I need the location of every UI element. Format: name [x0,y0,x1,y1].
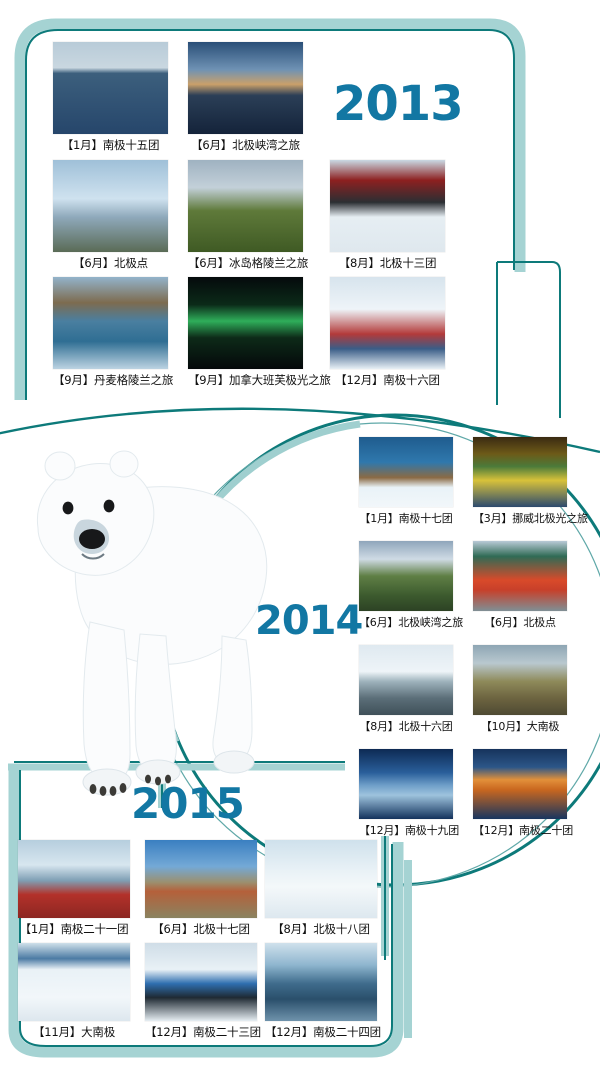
photo-caption: 【1月】南极二十一团 [18,921,130,937]
greenland-colored-houses-image[interactable] [53,277,168,369]
poster-canvas: 2013 【1月】南极十五团 【6月】北极峡湾之旅 【6月】北极点 【6月】冰岛… [0,0,600,1067]
photo-caption: 【12月】南极二十团 [473,822,573,838]
photo-cell[interactable]: 【6月】北极峡湾之旅 [188,42,303,153]
photo-cell[interactable]: 【8月】北极十八团 [265,840,377,937]
photo-cell[interactable]: 【12月】南极十六团 [330,277,445,388]
photo-caption: 【12月】南极十九团 [359,822,459,838]
photo-caption: 【11月】大南极 [18,1024,130,1040]
king-penguins-and-photographers-image[interactable] [473,645,567,715]
photo-caption: 【12月】南极二十三团 [145,1024,261,1040]
norwegian-valley-road-image[interactable] [359,541,453,611]
icebreaker-ship-with-group-image[interactable] [330,160,445,252]
photo-cell[interactable]: 【9月】加拿大班芙极光之旅 [188,277,331,388]
traveler-red-parka-photographing-image[interactable] [18,840,130,918]
photo-cell[interactable]: 【12月】南极二十三团 [145,943,261,1040]
photo-cell[interactable]: 【8月】北极十三团 [330,160,445,271]
frame-bridge-band-b [381,836,389,956]
photo-caption: 【6月】北极点 [53,255,168,271]
photo-caption: 【6月】北极十七团 [145,921,257,937]
photo-caption: 【6月】北极峡湾之旅 [359,614,463,630]
polar-bear-drinking-image[interactable] [359,645,453,715]
photo-caption: 【1月】南极十五团 [53,137,168,153]
photo-cell[interactable]: 【3月】挪威北极光之旅 [473,437,588,526]
photo-caption: 【12月】南极十六团 [330,372,445,388]
sunset-mountain-reflection-image[interactable] [473,749,567,819]
photo-cell[interactable]: 【8月】北极十六团 [359,645,453,734]
photo-cell[interactable]: 【1月】南极十五团 [53,42,168,153]
breaching-humpback-whale-image[interactable] [265,943,377,1021]
year-label-2013: 2013 [333,80,463,128]
polar-bear-with-cubs-image[interactable] [265,840,377,918]
photo-cell[interactable]: 【6月】北极峡湾之旅 [359,541,463,630]
penguin-highway-line-image[interactable] [18,943,130,1021]
frame-2015-right-band [404,860,412,1038]
amundsen-bust-monument-image[interactable] [145,840,257,918]
photo-cell[interactable]: 【1月】南极二十一团 [18,840,130,937]
photo-caption: 【8月】北极十八团 [265,921,377,937]
traveler-sitting-on-snow-image[interactable] [145,943,257,1021]
photo-cell[interactable]: 【6月】北极点 [473,541,567,630]
year-label-2015: 2015 [131,783,244,825]
photo-cell[interactable]: 【10月】大南极 [473,645,567,734]
photo-cell[interactable]: 【1月】南极十七团 [359,437,453,526]
gentoo-penguins-iceberg-image[interactable] [53,42,168,134]
puffins-on-grass-image[interactable] [188,160,303,252]
aurora-borealis-reflection-image[interactable] [188,277,303,369]
photo-caption: 【10月】大南极 [473,718,567,734]
photo-caption: 【3月】挪威北极光之旅 [473,510,588,526]
photo-cell[interactable]: 【9月】丹麦格陵兰之旅 [53,277,173,388]
group-photo-on-snow-image[interactable] [330,277,445,369]
photo-cell[interactable]: 【6月】北极点 [53,160,168,271]
photo-cell[interactable]: 【6月】冰岛格陵兰之旅 [188,160,308,271]
photo-caption: 【12月】南极二十四团 [265,1024,381,1040]
photo-cell[interactable]: 【12月】南极二十团 [473,749,573,838]
seal-on-ice-image[interactable] [359,437,453,507]
arctic-fjord-village-reflection-image[interactable] [188,42,303,134]
photo-caption: 【9月】丹麦格陵兰之旅 [53,372,173,388]
photo-caption: 【9月】加拿大班芙极光之旅 [188,372,331,388]
group-under-aurora-image[interactable] [473,437,567,507]
photo-cell[interactable]: 【12月】南极十九团 [359,749,459,838]
photo-caption: 【1月】南极十七团 [359,510,453,526]
frame-2013-drop [497,262,560,418]
ship-deck-crowd-image[interactable] [473,541,567,611]
photo-cell[interactable]: 【11月】大南极 [18,943,130,1040]
photo-caption: 【8月】北极十三团 [330,255,445,271]
photo-caption: 【8月】北极十六团 [359,718,453,734]
photo-caption: 【6月】北极峡湾之旅 [188,137,303,153]
moonlit-icebergs-image[interactable] [359,749,453,819]
photo-caption: 【6月】北极点 [473,614,567,630]
photo-cell[interactable]: 【6月】北极十七团 [145,840,257,937]
photo-caption: 【6月】冰岛格陵兰之旅 [188,255,308,271]
year-label-2014: 2014 [255,601,362,641]
ice-floe-field-image[interactable] [53,160,168,252]
photo-cell[interactable]: 【12月】南极二十四团 [265,943,381,1040]
